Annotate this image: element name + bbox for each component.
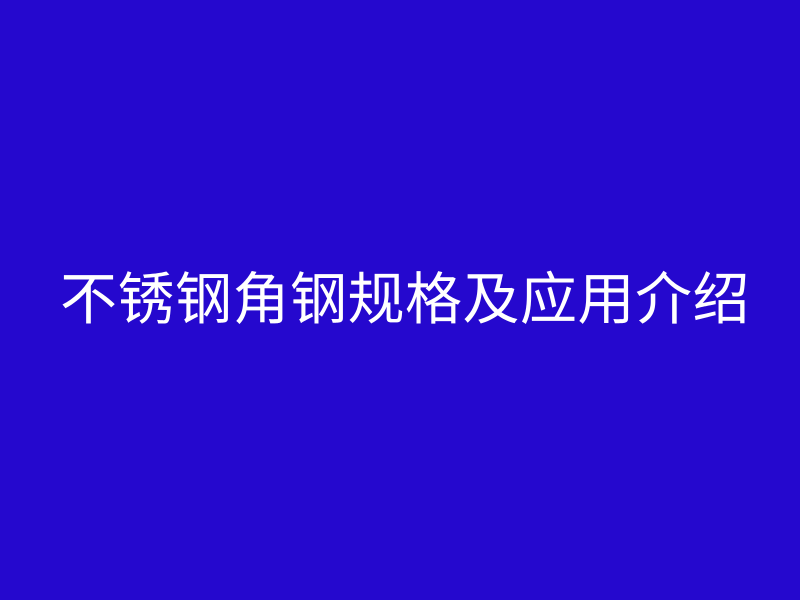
headline-row: 不锈钢角钢规格及应用介绍: [0, 0, 800, 600]
page-title: 不锈钢角钢规格及应用介绍: [60, 266, 750, 334]
title-card: 不锈钢角钢规格及应用介绍: [0, 0, 800, 600]
